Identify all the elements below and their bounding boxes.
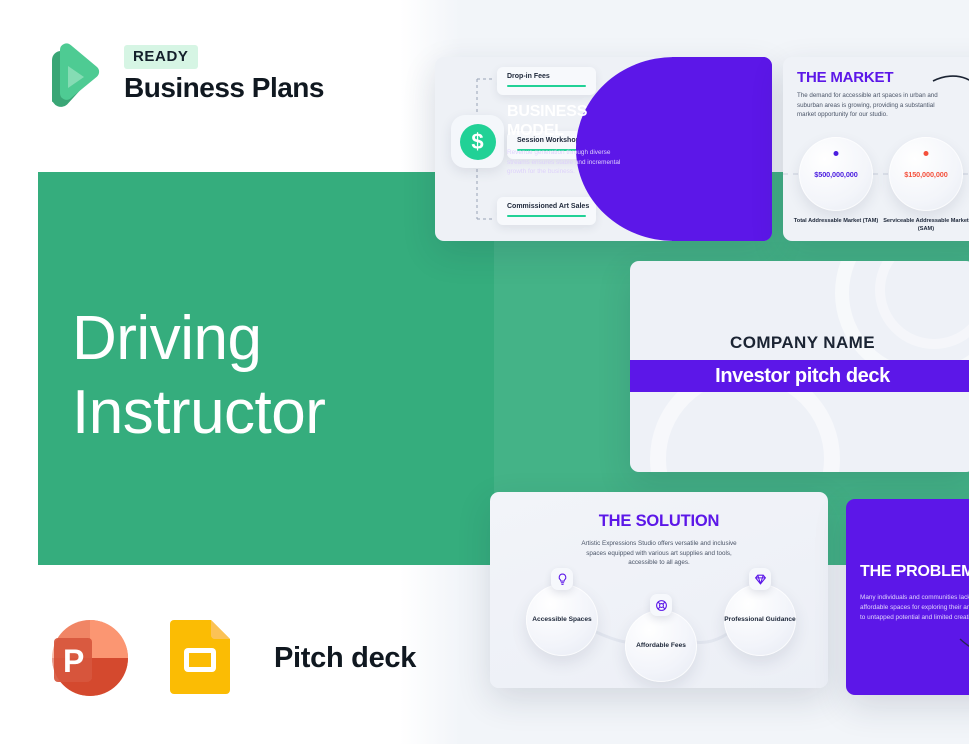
business-model-hub: $ [451,115,504,168]
solution-item-circle[interactable]: Professional Guidance [724,584,796,656]
market-metric-circle: $500,000,000 [799,137,873,211]
curved-arrow-icon [931,71,969,121]
powerpoint-icon[interactable]: P [40,612,132,704]
dollar-icon: $ [460,124,496,160]
market-metric-caption: Serviceable Addressable Market (SAM) [883,217,969,233]
diamond-icon-svg [754,573,767,586]
brand-name: Business Plans [124,72,324,104]
company-name-title: COMPANY NAME [630,333,969,353]
market-metric-caption: Total Addressable Market (TAM) [793,217,879,225]
lifebuoy-icon-svg [655,599,668,612]
company-name-subtitle: Investor pitch deck [715,365,890,388]
page-title-line1: Driving [72,302,325,376]
business-model-item-bar [507,215,586,217]
solution-item-circle[interactable]: Affordable Fees [625,610,697,682]
brand-text-group: READY Business Plans [124,45,324,104]
brand-logo[interactable]: READY Business Plans [38,36,324,112]
business-model-item-bar [507,85,586,87]
business-model-item[interactable]: Drop-in Fees [497,67,596,95]
google-slides-icon[interactable] [154,612,246,704]
slide-market[interactable]: THE MARKET The demand for accessible art… [783,57,969,241]
google-slides-icon-svg [154,612,246,704]
powerpoint-icon-svg: P [40,612,132,704]
solution-item-label: Accessible Spaces [532,615,591,625]
ready-badge: READY [124,45,198,69]
company-name-band: Investor pitch deck [630,360,969,392]
problem-description: Many individuals and communities lack ac… [860,593,969,623]
dot-marker-icon [834,151,839,156]
slide-business-model[interactable]: $ Drop-in Fees Session Workshops Commiss… [435,57,772,241]
slide-problem[interactable]: THE PROBLEM Many individuals and communi… [846,499,969,695]
dot-marker-icon [924,151,929,156]
slide-solution[interactable]: THE SOLUTION Artistic Expressions Studio… [490,492,828,688]
problem-arrow-icon [958,635,969,675]
lifebuoy-icon [650,594,672,616]
problem-title: THE PROBLEM [860,563,969,581]
business-model-item[interactable]: Commissioned Art Sales [497,197,596,225]
market-metric-value: $500,000,000 [814,170,857,179]
market-metric-value: $150,000,000 [904,170,947,179]
market-description: The demand for accessible art spaces in … [797,91,945,120]
solution-item-label: Affordable Fees [636,641,686,651]
business-model-description: Revenue generation through diverse strea… [507,148,621,177]
market-title: THE MARKET [797,69,893,86]
business-model-accent-block [672,57,772,241]
solution-item-circle[interactable]: Accessible Spaces [526,584,598,656]
format-row: P Pitch deck [40,612,416,704]
page-title: Driving Instructor [72,302,325,450]
business-model-title: BUSINESS MODEL [507,102,627,140]
business-model-item-label: Commissioned Art Sales [507,203,586,210]
market-metric-circle: $150,000,000 [889,137,963,211]
business-model-item-label: Drop-in Fees [507,73,586,80]
diamond-icon [749,568,771,590]
play-logo-svg [38,36,110,112]
slide-company-name[interactable]: COMPANY NAME Investor pitch deck [630,261,969,472]
business-model-title-line2: MODEL [507,121,627,140]
svg-text:P: P [63,643,84,679]
play-logo-icon [38,36,110,112]
solution-description: Artistic Expressions Studio offers versa… [579,539,739,568]
lightbulb-icon [551,568,573,590]
pitch-deck-label: Pitch deck [274,642,416,675]
business-model-title-line1: BUSINESS [507,102,627,121]
lightbulb-icon-svg [556,573,569,586]
solution-title: THE SOLUTION [490,512,828,531]
page-title-line2: Instructor [72,376,325,450]
solution-item-label: Professional Guidance [724,615,795,625]
